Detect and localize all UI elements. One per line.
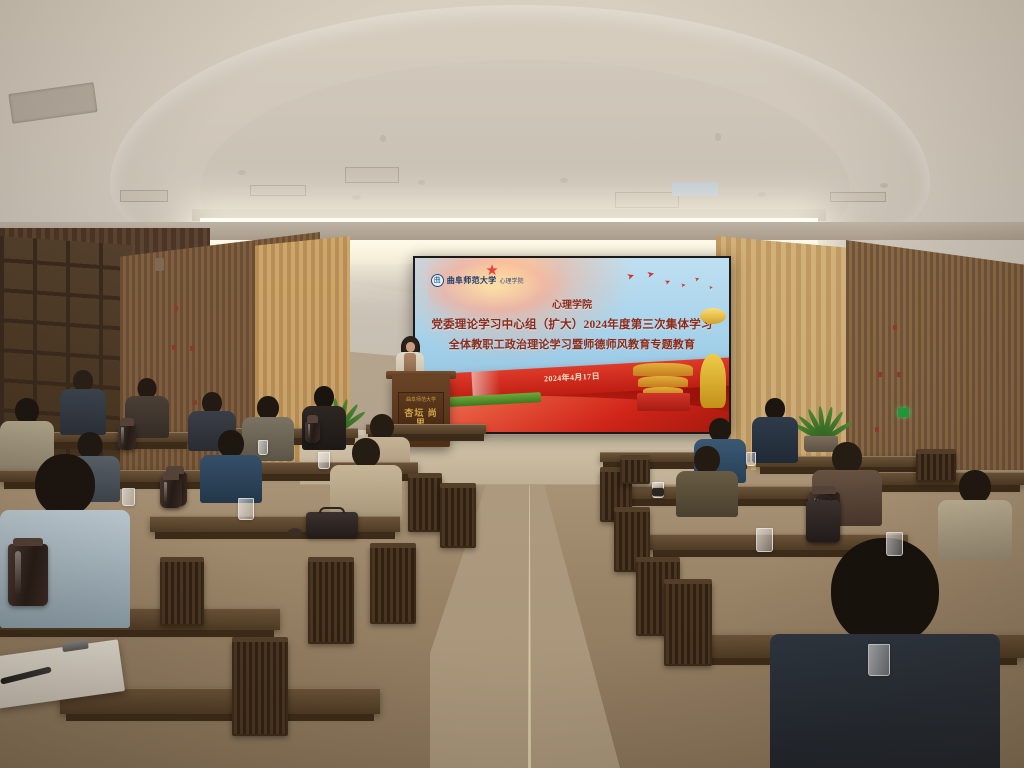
podium-institution-text: 曲阜师范大学	[400, 398, 442, 404]
ceiling-speaker	[758, 192, 766, 197]
exit-sign-icon	[898, 408, 909, 417]
ceiling-speaker	[880, 183, 888, 188]
drinking-glass	[122, 488, 135, 506]
ceiling-light-panel	[672, 182, 718, 196]
thermos-flask	[118, 424, 136, 450]
wall-switch	[174, 306, 178, 311]
doves-icon: ➤ ➤ ➤ ➤ ➤ ➤	[625, 270, 720, 294]
attendee	[676, 446, 738, 512]
drinking-glass	[318, 452, 330, 469]
chair	[370, 546, 416, 624]
chair	[440, 486, 476, 548]
screen-logo: 曲 曲阜师范大学 心理学院	[431, 274, 524, 287]
ceiling-vent	[830, 192, 886, 202]
chair	[664, 582, 712, 666]
small-cup	[288, 528, 302, 537]
drinking-glass	[238, 498, 254, 520]
ceiling-speaker	[418, 180, 425, 185]
golden-dragon-pillar-icon	[700, 354, 726, 408]
phone	[652, 488, 664, 496]
table-row	[150, 516, 400, 532]
attendee	[752, 398, 798, 460]
wall-speaker	[155, 258, 164, 271]
wall-switch	[190, 346, 194, 351]
handbag	[306, 512, 358, 538]
attendee	[60, 370, 106, 434]
ceiling-sprinkler	[380, 135, 386, 142]
wall-switch	[897, 372, 901, 377]
ceiling-vent	[250, 185, 306, 196]
drinking-glass	[746, 452, 756, 466]
screen-headline: 心理学院	[415, 296, 729, 311]
drinking-glass	[756, 528, 773, 552]
drinking-glass	[868, 644, 890, 676]
drinking-glass	[258, 440, 268, 455]
ceiling-speaker	[352, 195, 361, 200]
wall-switch	[172, 345, 176, 350]
chair	[308, 560, 354, 644]
wall-switch	[893, 325, 897, 330]
thermos-flask	[305, 421, 320, 443]
college-name-script: 心理学院	[500, 276, 524, 285]
led-presentation-screen: ★ 曲 曲阜师范大学 心理学院 ➤ ➤ ➤ ➤ ➤ ➤ 心理学院 党委理论学习中…	[413, 256, 731, 434]
screen-title-line-2: 全体教职工政治理论学习暨师德师风教育专题教育	[415, 336, 729, 352]
ceiling-vent	[615, 192, 679, 208]
ceiling-vent	[120, 190, 168, 202]
tiananmen-gate-icon	[632, 363, 694, 411]
university-name: 曲阜师范大学	[447, 275, 497, 286]
pen	[0, 666, 52, 684]
drinking-glass	[886, 532, 903, 556]
handbag	[806, 500, 840, 542]
attendee	[200, 430, 262, 498]
chair	[620, 458, 650, 484]
ceiling-speaker	[238, 170, 246, 175]
thermos-flask	[8, 544, 48, 606]
wall-switch	[878, 372, 882, 377]
ceiling-vent	[345, 167, 399, 183]
chair	[408, 476, 442, 532]
chair	[916, 452, 956, 482]
speaker-scarf	[404, 353, 416, 373]
ceiling-sprinkler	[715, 133, 721, 141]
chair	[160, 560, 204, 626]
thermos-flask	[160, 478, 182, 508]
dragon-crown-icon	[700, 308, 726, 324]
university-emblem-icon: 曲	[431, 274, 444, 287]
speaker-face	[406, 342, 415, 352]
conference-hall-photo: ★ 曲 曲阜师范大学 心理学院 ➤ ➤ ➤ ➤ ➤ ➤ 心理学院 党委理论学习中…	[0, 0, 1024, 768]
ceiling-speaker	[560, 178, 568, 183]
wall-switch	[875, 427, 879, 432]
screen-title-line-1: 党委理论学习中心组（扩大）2024年度第三次集体学习	[415, 316, 729, 332]
chair	[232, 640, 288, 736]
